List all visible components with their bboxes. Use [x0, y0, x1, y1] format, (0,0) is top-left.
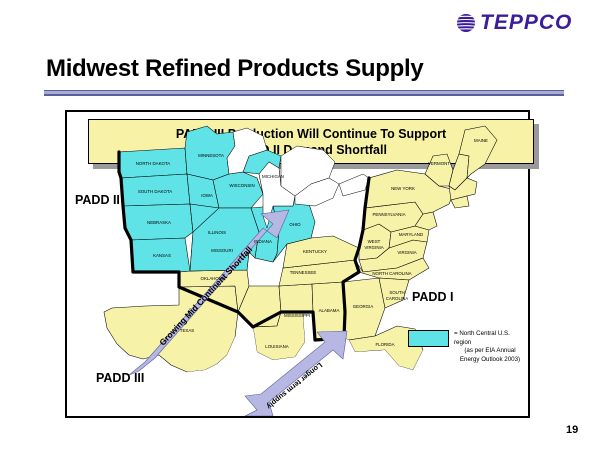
padd-1-label: PADD I: [412, 290, 453, 304]
teppco-sphere-icon: [456, 13, 476, 33]
legend-line-1: = North Central U.S. region: [454, 330, 526, 347]
page-title: Midwest Refined Products Supply: [46, 55, 423, 83]
label-kentucky: KENTUCKY: [303, 249, 327, 254]
padd-2-label: PADD II: [75, 193, 120, 207]
label-west-virginia: WEST: [368, 239, 381, 244]
legend-line-3: Energy Outlook 2003): [454, 356, 526, 365]
label-wisconsin: WISCONSIN: [229, 183, 254, 188]
label-tennessee: TENNESSEE: [290, 270, 317, 275]
map-legend: = North Central U.S. region (as per EIA …: [408, 330, 530, 364]
padd-3-label: PADD III: [96, 371, 144, 385]
label-pennsylvania: PENNSYLVANIA: [372, 212, 405, 217]
label-new-york: NEW YORK: [391, 186, 415, 191]
label-maine: MAINE: [474, 138, 488, 143]
label-kansas: KANSAS: [153, 253, 171, 258]
label-oklahoma: OKLAHOMA: [201, 276, 226, 281]
label-georgia: GEORGIA: [353, 304, 374, 309]
label-south-carolina-2: CAROLINA: [386, 296, 409, 301]
label-mississippi: MISSISSIPPI: [284, 313, 310, 318]
label-texas: TEXAS: [180, 328, 194, 333]
label-south-carolina: SOUTH: [389, 290, 404, 295]
label-minnesota: MINNESOTA: [198, 153, 224, 158]
map-panel: PADD III Production Will Continue To Sup…: [65, 110, 530, 418]
label-virginia: VIRGINIA: [397, 250, 416, 255]
label-alabama: ALABAMA: [319, 308, 340, 313]
label-north-dakota: NORTH DAKOTA: [136, 161, 171, 166]
label-missouri: MISSOURI: [211, 248, 233, 253]
label-illinois: ILLINOIS: [208, 230, 226, 235]
label-south-dakota: SOUTH DAKOTA: [138, 189, 172, 194]
label-west-virginia-2: VIRGINIA: [364, 245, 383, 250]
title-divider: [44, 90, 564, 96]
legend-color-swatch: [408, 330, 449, 347]
label-nebraska: NEBRASKA: [147, 220, 171, 225]
label-indiana: INDIANA: [254, 239, 272, 244]
label-florida: FLORIDA: [375, 342, 394, 347]
legend-text: = North Central U.S. region (as per EIA …: [454, 330, 526, 364]
teppco-logo: TEPPCO: [456, 10, 586, 36]
label-vermont: VERMONT: [428, 161, 450, 166]
page-number: 19: [566, 424, 578, 436]
label-iowa: IOWA: [201, 193, 213, 198]
label-michigan: MICHIGAN: [262, 174, 284, 179]
label-louisiana: LOUISIANA: [265, 344, 288, 349]
teppco-wordmark: TEPPCO: [480, 10, 572, 36]
label-maryland: MARYLAND: [399, 232, 423, 237]
legend-line-2: (as per EIA Annual: [454, 347, 526, 356]
label-ohio: OHIO: [289, 222, 301, 227]
lake-ontario: [339, 174, 369, 196]
state-georgia: [343, 278, 385, 340]
label-north-carolina: NORTH CAROLINA: [372, 271, 411, 276]
